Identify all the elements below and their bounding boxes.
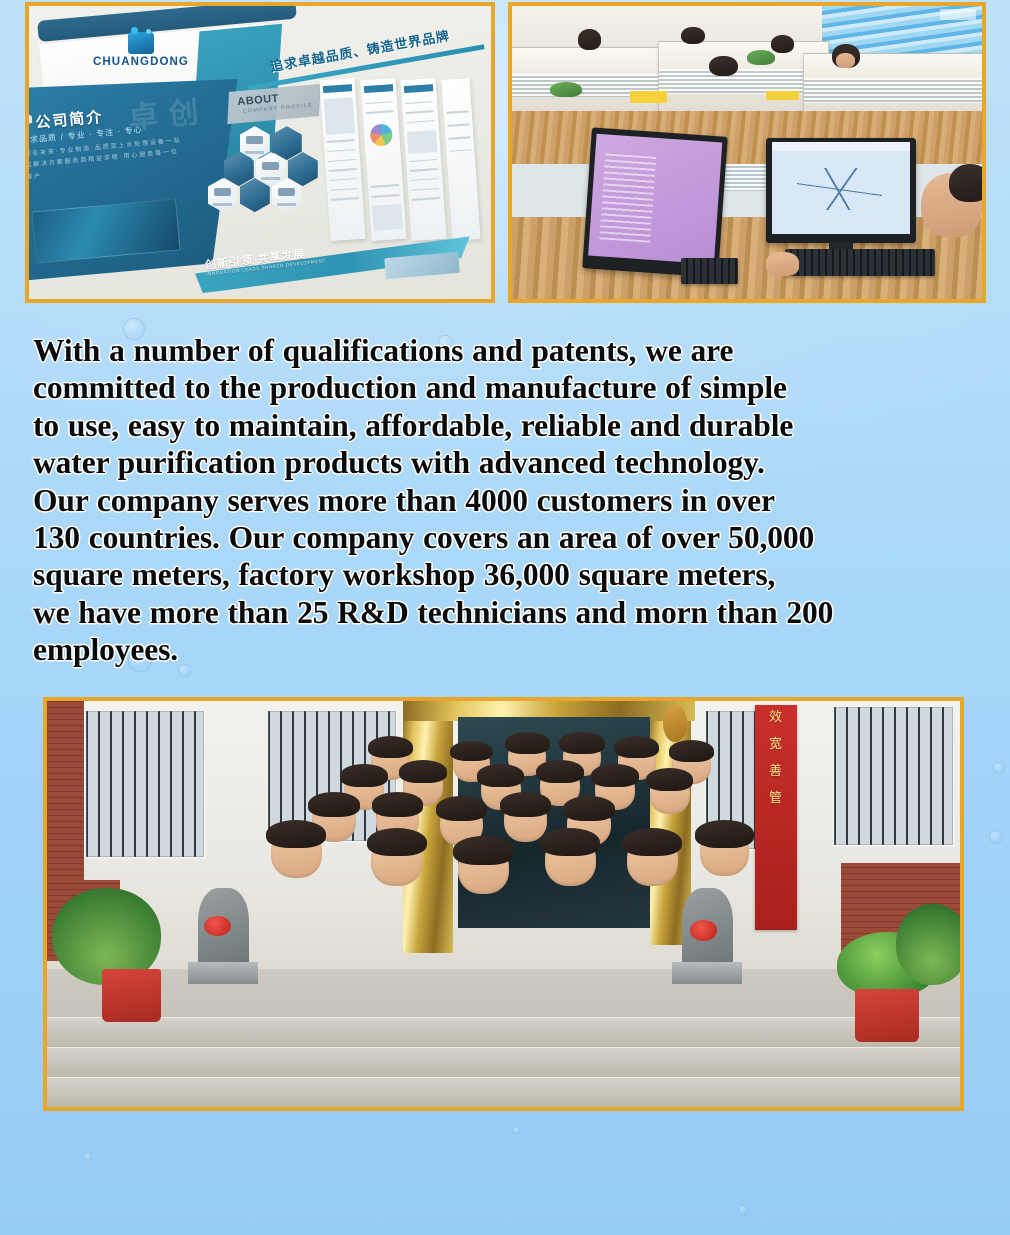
employee-hair-foreground (949, 164, 982, 202)
palm-plant-right (896, 904, 960, 985)
person-head (371, 835, 422, 886)
banner-char: 管 (769, 792, 782, 805)
flower-pot-left (102, 969, 161, 1022)
window (84, 709, 207, 859)
team-member-front (371, 835, 422, 883)
photo-office (508, 2, 986, 303)
hex-tile (224, 152, 254, 186)
bubble-decoration (989, 830, 1003, 844)
person-head (627, 835, 678, 886)
water-drop-logo-icon (128, 32, 154, 54)
wall-info-column (401, 78, 447, 241)
home-icon (29, 111, 33, 124)
banner-char: 善 (769, 765, 782, 778)
hex-tile (256, 152, 286, 186)
red-vertical-banner: 效 宽 善 管 (755, 705, 797, 930)
hex-tile (272, 178, 302, 212)
wall-inset-photo (32, 199, 181, 264)
person-head-with-sunglasses (271, 827, 322, 878)
monitor-screen-left (589, 133, 723, 264)
monitor-screen-cad (772, 142, 910, 234)
colleague-face (836, 53, 855, 68)
person-head (545, 835, 596, 886)
brand-wordmark: CHUANGDONG (81, 56, 201, 68)
monitor-right (766, 138, 916, 243)
page-root: CHUANGDONG 公司简介 追求品质 / 专业 · 专注 · 专心 卓 创 … (0, 0, 1010, 1235)
hex-tile (240, 178, 270, 212)
team-member-front (700, 827, 749, 873)
step (47, 1047, 960, 1077)
team-image: 效 宽 善 管 (47, 701, 960, 1107)
wall-ghost-text: 卓 创 (126, 87, 200, 137)
wall-info-columns (325, 79, 482, 240)
team-member-front (458, 843, 509, 891)
monitor-left (582, 127, 728, 277)
keyboard (785, 249, 935, 275)
team-member-front (545, 835, 596, 883)
bubble-decoration (993, 762, 1005, 774)
step (47, 1077, 960, 1107)
photo-team: 效 宽 善 管 (43, 697, 964, 1111)
hanging-gourd-ornament (663, 705, 687, 742)
flower-pot-right (855, 989, 919, 1042)
culture-wall-image: CHUANGDONG 公司简介 追求品质 / 专业 · 专注 · 专心 卓 创 … (29, 6, 491, 299)
wall-hexagon-grid (214, 126, 334, 237)
bubble-decoration (738, 1205, 749, 1216)
step (47, 1017, 960, 1048)
cubicle-partition (803, 53, 982, 119)
colleague-head (681, 27, 705, 45)
hex-tile (240, 126, 270, 160)
entrance-steps (47, 1018, 960, 1107)
hex-tile (272, 126, 302, 160)
yellow-folder (766, 91, 799, 100)
hand-on-mouse (766, 252, 799, 275)
yellow-folder (630, 91, 668, 103)
bubble-decoration (512, 1126, 521, 1135)
window (832, 705, 955, 847)
wall-info-column (360, 78, 406, 241)
hex-tile (288, 152, 318, 186)
person-head (504, 798, 548, 842)
person-head (700, 827, 749, 876)
colleague-head (771, 35, 795, 53)
colleague-head (578, 29, 602, 50)
desk-plant (747, 50, 775, 65)
team-member (504, 798, 548, 839)
photo-culture-wall: CHUANGDONG 公司简介 追求品质 / 专业 · 专注 · 专心 卓 创 … (25, 2, 495, 303)
wall-info-column (442, 78, 481, 241)
numeric-keypad (681, 258, 737, 284)
person-head (650, 774, 690, 814)
colleague-head (709, 56, 737, 77)
wall-info-column (319, 78, 365, 241)
team-member (650, 774, 690, 812)
banner-char: 效 (769, 711, 782, 724)
person-head (458, 843, 509, 894)
red-ribbon-flower (690, 920, 717, 940)
team-member-front (627, 835, 678, 883)
chuangdong-logo: CHUANGDONG (81, 32, 201, 68)
cubicle-glass (804, 78, 982, 102)
team-member-front (271, 827, 322, 875)
office-image (512, 6, 982, 299)
bubble-decoration (83, 1152, 93, 1162)
about-company-paragraph: With a number of qualifications and pate… (33, 332, 985, 669)
desk-plant (550, 82, 583, 97)
banner-char: 宽 (769, 738, 782, 751)
